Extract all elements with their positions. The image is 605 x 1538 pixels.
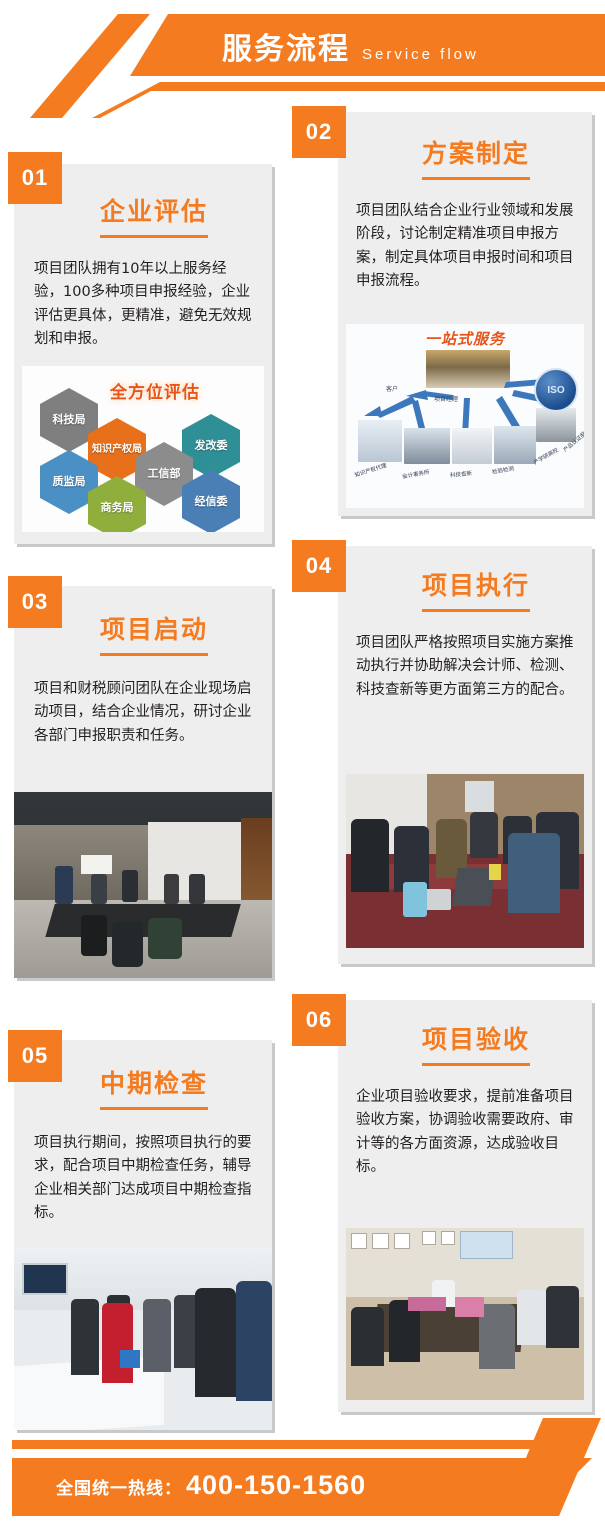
card-body-04: 项目团队严格按照项目实施方案推动执行并协助解决会计师、检测、科技查新等更方面第三… <box>356 632 574 702</box>
diagram-thumb-search <box>452 428 492 464</box>
hexagon-diagram-title: 全方位评估 <box>110 378 200 403</box>
service-flow-infographic: 服务流程 Service flow 企业评估 项目团队拥有10年以上服务经验，1… <box>0 0 605 1538</box>
hotline-number[interactable]: 400-150-1560 <box>186 1470 366 1501</box>
step-badge-05: 05 <box>8 1030 62 1082</box>
card-body-01: 项目团队拥有10年以上服务经验，100多种项目申报经验，企业评估更具体，更精准，… <box>34 258 252 352</box>
step-card-01[interactable]: 企业评估 项目团队拥有10年以上服务经验，100多种项目申报经验，企业评估更具体… <box>14 164 272 544</box>
step-badge-01: 01 <box>8 152 62 204</box>
step-card-04[interactable]: 项目执行 项目团队严格按照项目实施方案推动执行并协助解决会计师、检测、科技查新等… <box>338 546 592 964</box>
diagram-node-label: 项目经理 <box>434 394 458 403</box>
step-photo-03 <box>14 792 272 978</box>
diagram-thumb-testing <box>494 426 536 464</box>
header-title-group: 服务流程 Service flow <box>222 24 479 68</box>
step-photo-04 <box>346 774 584 948</box>
diagram-thumb-accounting <box>404 428 450 464</box>
card-title-06: 项目验收 <box>422 1020 530 1066</box>
card-body-02: 项目团队结合企业行业领域和发展阶段，讨论制定精准项目申报方案，制定具体项目申报时… <box>356 200 574 294</box>
step-card-02[interactable]: 方案制定 项目团队结合企业行业领域和发展阶段，讨论制定精准项目申报方案，制定具体… <box>338 112 592 516</box>
diagram-node-label: 客户 <box>386 384 398 393</box>
step-badge-04: 04 <box>292 540 346 592</box>
card-title-02: 方案制定 <box>422 134 530 180</box>
card-body-05: 项目执行期间，按照项目执行的要求，配合项目中期检查任务，辅导企业相关部门达成项目… <box>34 1132 252 1226</box>
hotline-group: 全国统一热线： 400-150-1560 <box>56 1470 366 1501</box>
hexagon-diagram-01: 全方位评估 科技局 知识产权局 发改委 质监局 工信部 商务局 经信委 <box>22 366 264 532</box>
header-underline <box>150 82 605 91</box>
page-header: 服务流程 Service flow <box>0 0 605 118</box>
card-title-01: 企业评估 <box>100 192 208 238</box>
step-card-06[interactable]: 项目验收 企业项目验收要求，提前准备项目验收方案，协调验收需要政府、审计等的各方… <box>338 1000 592 1412</box>
step-photo-06 <box>346 1228 584 1400</box>
diagram-thumb-university <box>536 408 576 442</box>
step-card-03[interactable]: 项目启动 项目和财税顾问团队在企业现场启动项目，结合企业情况，研讨企业各部门申报… <box>14 586 272 978</box>
step-badge-06: 06 <box>292 994 346 1046</box>
step-card-05[interactable]: 中期检查 项目执行期间，按照项目执行的要求，配合项目中期检查任务，辅导企业相关部… <box>14 1040 272 1430</box>
step-photo-05 <box>14 1248 272 1430</box>
card-title-05: 中期检查 <box>100 1064 208 1110</box>
page-subtitle: Service flow <box>362 46 479 63</box>
footer-topline <box>12 1440 572 1449</box>
step-badge-02: 02 <box>292 106 346 158</box>
card-body-03: 项目和财税顾问团队在企业现场启动项目，结合企业情况，研讨企业各部门申报职责和任务… <box>34 678 252 748</box>
step-badge-03: 03 <box>8 576 62 628</box>
diagram-thumb-ip <box>358 420 402 462</box>
card-title-03: 项目启动 <box>100 610 208 656</box>
page-title: 服务流程 <box>222 24 350 68</box>
page-footer: 全国统一热线： 400-150-1560 <box>0 1418 605 1538</box>
one-stop-service-diagram-02: 一站式服务 客户 项目经理 <box>346 324 584 508</box>
header-wedge-decoration <box>30 14 150 118</box>
iso-seal-icon: ISO <box>534 368 578 412</box>
card-body-06: 企业项目验收要求，提前准备项目验收方案，协调验收需要政府、审计等的各方面资源，达… <box>356 1086 574 1180</box>
hotline-label: 全国统一热线： <box>56 1474 182 1499</box>
card-title-04: 项目执行 <box>422 566 530 612</box>
